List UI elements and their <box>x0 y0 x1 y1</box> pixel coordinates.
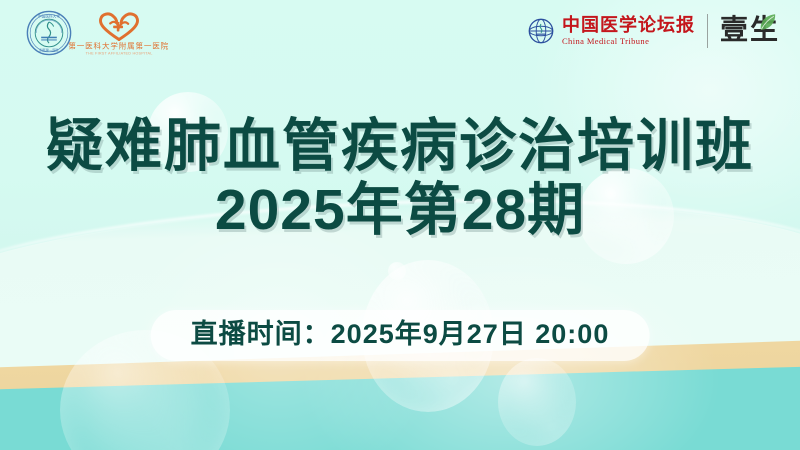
header-right-logos: 中国医学论坛报 China Medical Tribune 壹生 <box>528 14 780 48</box>
yisheng-logo: 壹生 <box>720 17 780 45</box>
poster-title-block: 疑难肺血管疾病诊治培训班 2025年第28期 <box>0 116 800 241</box>
bubble-decoration <box>498 358 576 446</box>
heart-logo-cn-text: 第一医科大学附属第一医院 <box>68 44 169 52</box>
live-time-pill: 直播时间：2025年9月27日 20:00 <box>151 310 650 361</box>
cmt-english-name: China Medical Tribune <box>562 37 695 46</box>
live-time-text: 直播时间：2025年9月27日 20:00 <box>191 319 610 350</box>
page-title-line-1: 疑难肺血管疾病诊治培训班 <box>0 116 800 176</box>
heart-icon <box>97 11 141 41</box>
hospital-seal-icon: 中国医科大学 附属第一医院 <box>26 10 72 56</box>
logo-divider <box>707 14 708 48</box>
leaf-icon <box>758 13 778 35</box>
page-title-line-2: 2025年第28期 <box>0 180 800 240</box>
svg-text:中国医科大学: 中国医科大学 <box>38 13 60 18</box>
cmt-chinese-name: 中国医学论坛报 <box>562 16 695 34</box>
svg-text:附属第一医院: 附属第一医院 <box>39 47 59 52</box>
header-left-logos: 中国医科大学 附属第一医院 第一医科大学附属第一医院 THE FIRST AFF… <box>26 10 153 56</box>
live-stream-poster: 中国医科大学 附属第一医院 第一医科大学附属第一医院 THE FIRST AFF… <box>0 0 800 450</box>
bubble-decoration <box>388 262 406 280</box>
heart-logo-lockup: 第一医科大学附属第一医院 THE FIRST AFFILIATED HOSPIT… <box>84 11 153 56</box>
globe-icon <box>528 18 554 44</box>
china-medical-tribune-logo: 中国医学论坛报 China Medical Tribune <box>562 16 695 46</box>
heart-logo-en-text: THE FIRST AFFILIATED HOSPITAL <box>85 53 152 57</box>
